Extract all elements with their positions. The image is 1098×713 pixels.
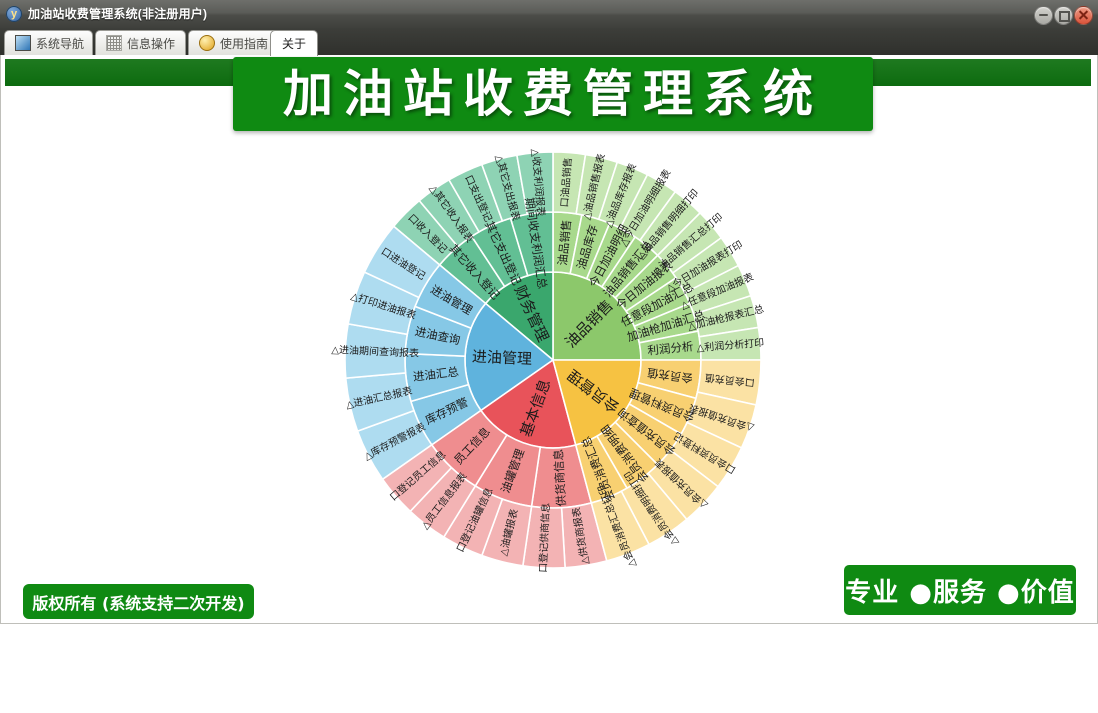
functions-sunburst-chart: 油品销售油品销售油品库存今日加油明细油品销售汇总今日加油报表任意段加油汇总加油枪… [1, 55, 1098, 624]
tab-system-navigation[interactable]: 系统导航 [4, 30, 93, 55]
maximize-button[interactable] [1054, 6, 1073, 25]
tab-label: 关于 [282, 35, 306, 52]
sector-core-label: 进油管理 [472, 347, 533, 368]
close-button[interactable] [1074, 6, 1093, 25]
tab-label: 信息操作 [127, 35, 175, 52]
client-area: 加油站收费管理系统 油品销售油品销售油品库存今日加油明细油品销售汇总今日加油报表… [0, 55, 1098, 624]
desktop-background [0, 625, 1098, 713]
tab-bar: 系统导航 信息操作 使用指南 关于 [0, 28, 1098, 55]
tab-label: 系统导航 [36, 35, 84, 52]
slogan-plate: 专业 ●服务 ●价值 [844, 565, 1076, 615]
coin-icon [199, 35, 215, 51]
window-title: 加油站收费管理系统(非注册用户) [28, 5, 207, 22]
copyright-text: 版权所有 (系统支持二次开发) [32, 590, 244, 614]
tab-about[interactable]: 关于 [270, 30, 318, 56]
application-window: y 加油站收费管理系统(非注册用户) 系统导航 信息操作 使用指南 关于 加油站… [0, 0, 1098, 625]
app-logo-icon: y [6, 6, 22, 22]
minimize-button[interactable] [1034, 6, 1053, 25]
slogan-text: 专业 ●服务 ●价值 [845, 572, 1074, 609]
tab-user-guide[interactable]: 使用指南 [188, 30, 282, 55]
copyright-plate: 版权所有 (系统支持二次开发) [23, 584, 254, 619]
title-bar: y 加油站收费管理系统(非注册用户) [0, 0, 1098, 29]
tab-information-operations[interactable]: 信息操作 [95, 30, 186, 55]
tab-label: 使用指南 [220, 35, 268, 52]
monitor-icon [15, 35, 31, 51]
grid-icon [106, 35, 122, 51]
